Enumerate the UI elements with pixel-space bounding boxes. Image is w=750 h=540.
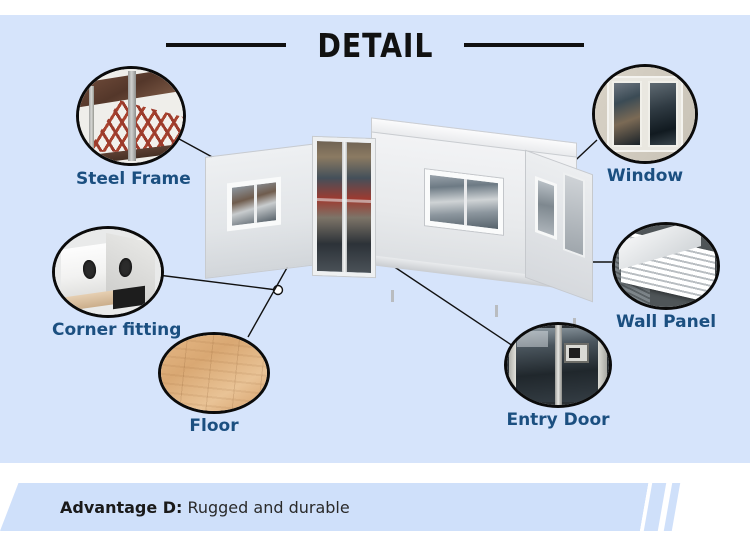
product-right-door xyxy=(563,172,585,258)
wall-panel-image xyxy=(612,222,720,310)
callout-entry-door[interactable]: Entry Door xyxy=(504,322,612,408)
product-image xyxy=(195,128,595,328)
callout-wall-panel[interactable]: Wall Panel xyxy=(612,222,720,310)
detail-infographic-page: DETAIL xyxy=(0,0,750,540)
title-rule-left xyxy=(166,43,286,47)
product-leg xyxy=(391,290,394,302)
product-main-window xyxy=(425,169,503,235)
product-right-window xyxy=(535,176,557,240)
callout-label-floor: Floor xyxy=(158,416,270,436)
page-title: DETAIL xyxy=(0,22,750,68)
callout-window[interactable]: Window xyxy=(592,64,698,164)
banner-stripe-2 xyxy=(664,483,680,531)
callout-label-wall-panel: Wall Panel xyxy=(612,312,720,332)
entry-door-image xyxy=(504,322,612,408)
callout-steel-frame[interactable]: Steel Frame xyxy=(76,66,186,166)
window-image xyxy=(592,64,698,164)
product-leg xyxy=(495,305,498,317)
advantage-banner-content: Advantage D: Rugged and durable xyxy=(60,483,620,531)
steel-frame-image xyxy=(76,66,186,166)
corner-fitting-image xyxy=(52,226,164,318)
callout-label-window: Window xyxy=(592,166,698,186)
callout-corner-fitting[interactable]: Corner fitting xyxy=(52,226,164,318)
advantage-description: Rugged and durable xyxy=(187,498,349,517)
product-left-window xyxy=(227,177,281,232)
page-title-text: DETAIL xyxy=(317,26,433,65)
callout-label-corner-fitting: Corner fitting xyxy=(52,320,164,340)
callout-floor[interactable]: Floor xyxy=(158,332,270,414)
advantage-label: Advantage D: xyxy=(60,498,182,517)
floor-image xyxy=(158,332,270,414)
product-sliding-doors xyxy=(313,137,375,277)
callout-label-steel-frame: Steel Frame xyxy=(76,169,186,189)
callout-label-entry-door: Entry Door xyxy=(504,410,612,430)
title-rule-right xyxy=(464,43,584,47)
